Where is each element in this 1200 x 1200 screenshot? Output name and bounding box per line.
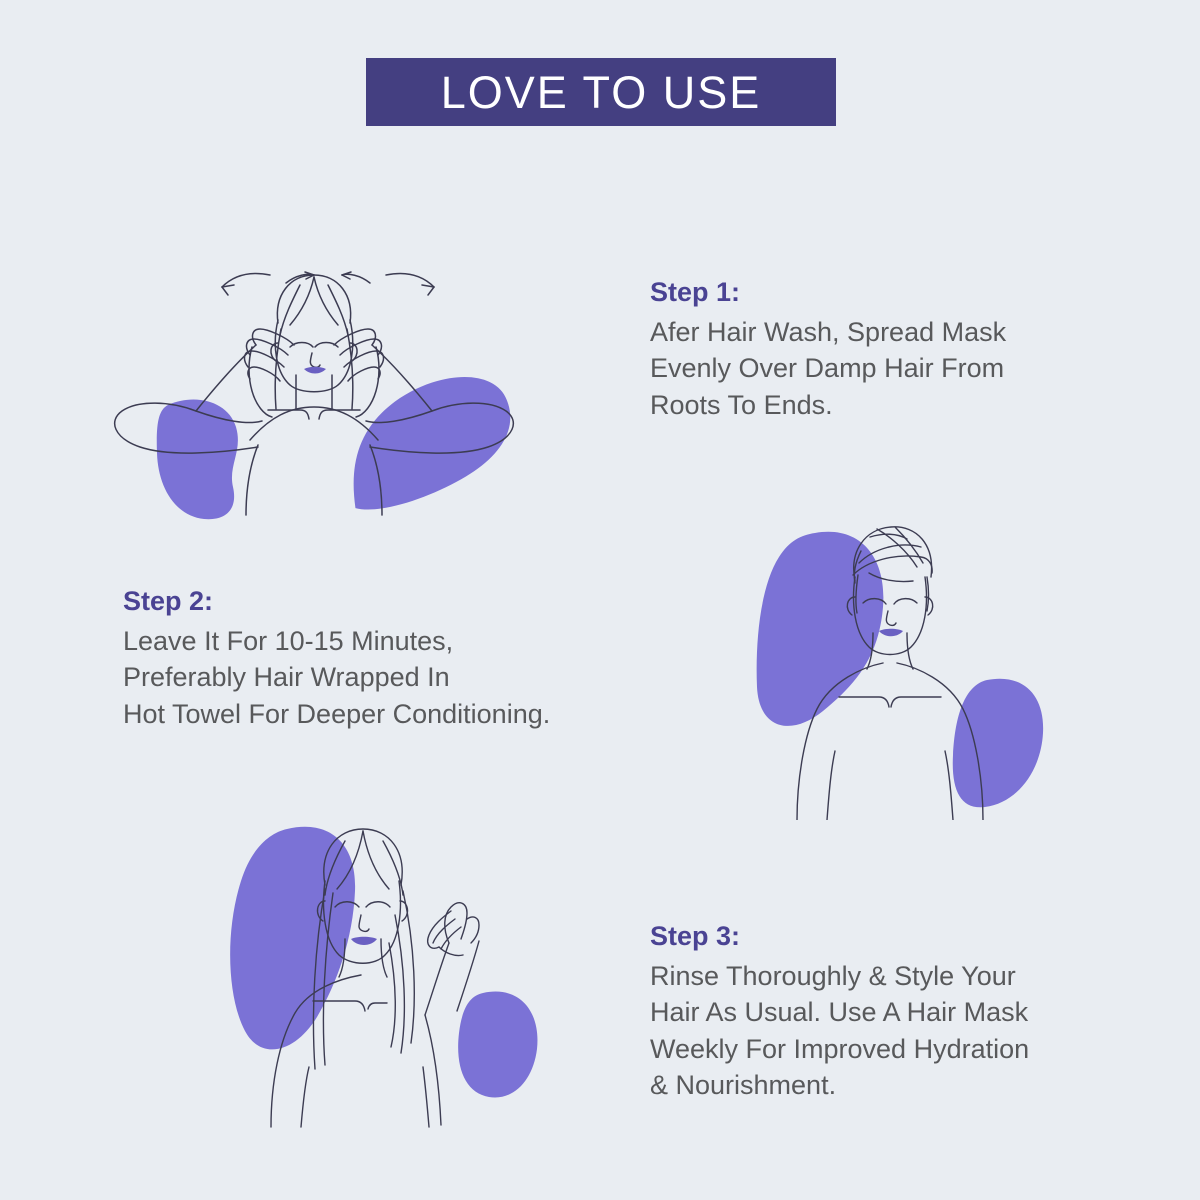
purple-blob-right <box>458 992 537 1098</box>
step-3-label: Step 3: <box>650 920 1190 954</box>
step-1-text-block: Step 1: Afer Hair Wash, Spread Mask Even… <box>650 276 1160 423</box>
arrow-heads <box>222 272 434 295</box>
lips-icon <box>879 629 903 637</box>
header-banner: LOVE TO USE <box>366 58 836 126</box>
step-2-body: Leave It For 10-15 Minutes, Preferably H… <box>123 623 763 732</box>
purple-blob-right <box>953 679 1043 808</box>
love-to-use-infographic: LOVE TO USE <box>0 0 1200 1200</box>
step-3-body: Rinse Thoroughly & Style Your Hair As Us… <box>650 958 1190 1104</box>
step-1-label: Step 1: <box>650 276 1160 310</box>
lips-icon <box>351 937 377 945</box>
lips-icon <box>304 367 326 374</box>
step-2-label: Step 2: <box>123 585 763 619</box>
step-2-text-block: Step 2: Leave It For 10-15 Minutes, Pref… <box>123 585 763 732</box>
step-3-text-block: Step 3: Rinse Thoroughly & Style Your Ha… <box>650 920 1190 1104</box>
page-title: LOVE TO USE <box>441 70 761 115</box>
step-3-illustration <box>225 815 575 1165</box>
purple-blob-right <box>339 371 520 513</box>
step-2-illustration <box>755 515 1055 820</box>
step-1-illustration <box>100 225 530 525</box>
step-1-body: Afer Hair Wash, Spread Mask Evenly Over … <box>650 314 1160 423</box>
purple-blob-left <box>157 400 238 520</box>
